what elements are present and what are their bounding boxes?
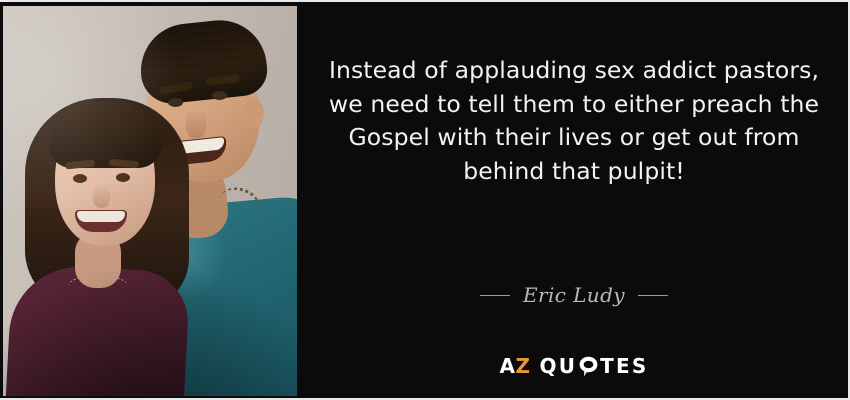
author-name[interactable]: Eric Ludy bbox=[523, 283, 625, 307]
attribution-dash-right bbox=[638, 295, 668, 296]
logo-quotes-wordmark: QU TES bbox=[540, 354, 649, 378]
photo-vignette bbox=[3, 6, 297, 396]
author-photo[interactable] bbox=[3, 6, 297, 396]
quote-content-panel: Instead of applauding sex addict pastors… bbox=[300, 2, 848, 400]
logo-quotes-suffix: TES bbox=[600, 354, 648, 378]
attribution: Eric Ludy bbox=[300, 283, 848, 307]
quote-card: Instead of applauding sex addict pastors… bbox=[0, 0, 850, 400]
attribution-dash-left bbox=[480, 295, 510, 296]
quote-text: Instead of applauding sex addict pastors… bbox=[322, 54, 826, 188]
azquotes-logo[interactable]: AZ QU TES bbox=[300, 354, 848, 378]
photo-panel bbox=[0, 2, 300, 400]
logo-az-wordmark: AZ bbox=[500, 354, 531, 378]
logo-letter-z: Z bbox=[516, 354, 531, 378]
speech-bubble-o-icon bbox=[579, 356, 598, 377]
logo-quotes-prefix: QU bbox=[540, 354, 578, 378]
logo-letter-a: A bbox=[500, 354, 516, 378]
